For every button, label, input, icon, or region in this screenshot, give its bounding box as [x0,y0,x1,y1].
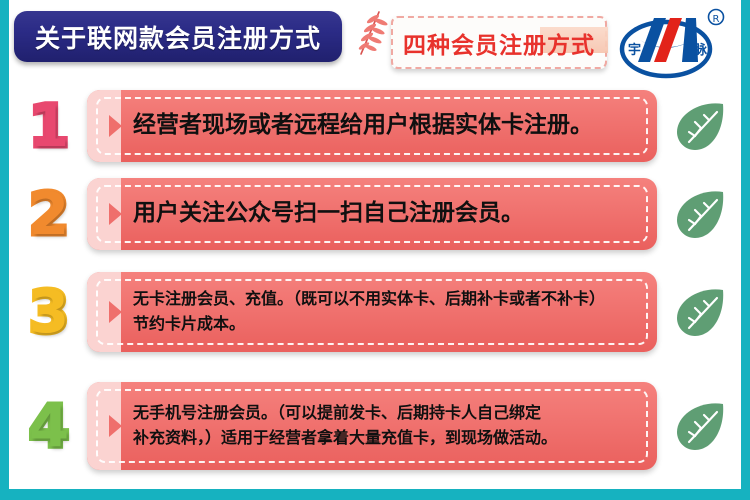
ribbon-tail [87,272,121,352]
list-item-text: 用户关注公众号扫一扫自己注册会员。 [133,178,633,250]
number-glyph: 4 [29,397,69,455]
poster-header: 关于联网款会员注册方式 四种会员注册方式 [9,0,741,84]
number-glyph: 2 [29,185,69,243]
yumai-brand-logo: 宇 脉 R [606,4,732,82]
text-line: 无手机号注册会员。（可以提前发卡、后期持卡人自己绑定 [133,401,633,426]
text-line: 经营者现场或者远程给用户根据实体卡注册。 [133,112,633,140]
list-item-text: 经营者现场或者远程给用户根据实体卡注册。 [133,90,633,162]
list-item-number: 4 [18,382,80,470]
list-item-bar: 无手机号注册会员。（可以提前发卡、后期持卡人自己绑定 补充资料，）适用于经营者拿… [87,382,657,470]
subtitle-badge: 四种会员注册方式 [391,16,607,69]
text-line: 节约卡片成本。 [133,312,633,337]
list-item-number: 1 [18,90,80,162]
list-item-bar: 用户关注公众号扫一扫自己注册会员。 [87,178,657,250]
ribbon-tail [87,382,121,470]
list-item-bar: 无卡注册会员、充值。（既可以不用实体卡、后期补卡或者不补卡） 节约卡片成本。 [87,272,657,352]
poster-root: 关于联网款会员注册方式 四种会员注册方式 [0,0,750,500]
list-item-text: 无卡注册会员、充值。（既可以不用实体卡、后期补卡或者不补卡） 节约卡片成本。 [133,272,633,352]
list-item: 3 无卡注册会员、充值。（既可以不用实体卡、后期补卡或者不补卡） 节约卡片成本。 [9,272,741,352]
list-item: 2 用户关注公众号扫一扫自己注册会员。 [9,178,741,250]
page-title: 关于联网款会员注册方式 [35,19,321,55]
list-item-number: 2 [18,178,80,250]
text-line: 用户关注公众号扫一扫自己注册会员。 [133,200,633,228]
text-line: 无卡注册会员、充值。（既可以不用实体卡、后期补卡或者不补卡） [133,287,633,312]
text-line: 补充资料，）适用于经营者拿着大量充值卡，到现场做活动。 [133,426,633,451]
ribbon-tail [87,178,121,250]
leaf-icon [671,398,729,454]
svg-text:R: R [713,14,720,25]
list-item-text: 无手机号注册会员。（可以提前发卡、后期持卡人自己绑定 补充资料，）适用于经营者拿… [133,382,633,470]
leaf-icon [671,284,729,340]
ribbon-tail [87,90,121,162]
subtitle-badge-label: 四种会员注册方式 [403,26,595,60]
list-item: 4 无手机号注册会员。（可以提前发卡、后期持卡人自己绑定 补充资料，）适用于经营… [9,382,741,470]
number-glyph: 3 [29,283,69,341]
leaf-icon [671,98,729,154]
list-item-bar: 经营者现场或者远程给用户根据实体卡注册。 [87,90,657,162]
leaf-icon [671,186,729,242]
logo-left-char: 宇 [628,42,641,58]
plant-sprig-icon [349,8,391,60]
page-title-pill: 关于联网款会员注册方式 [14,11,342,62]
logo-right-char: 脉 [693,42,708,58]
list-item: 1 经营者现场或者远程给用户根据实体卡注册。 [9,90,741,162]
list-item-number: 3 [18,272,80,352]
number-glyph: 1 [29,97,69,155]
